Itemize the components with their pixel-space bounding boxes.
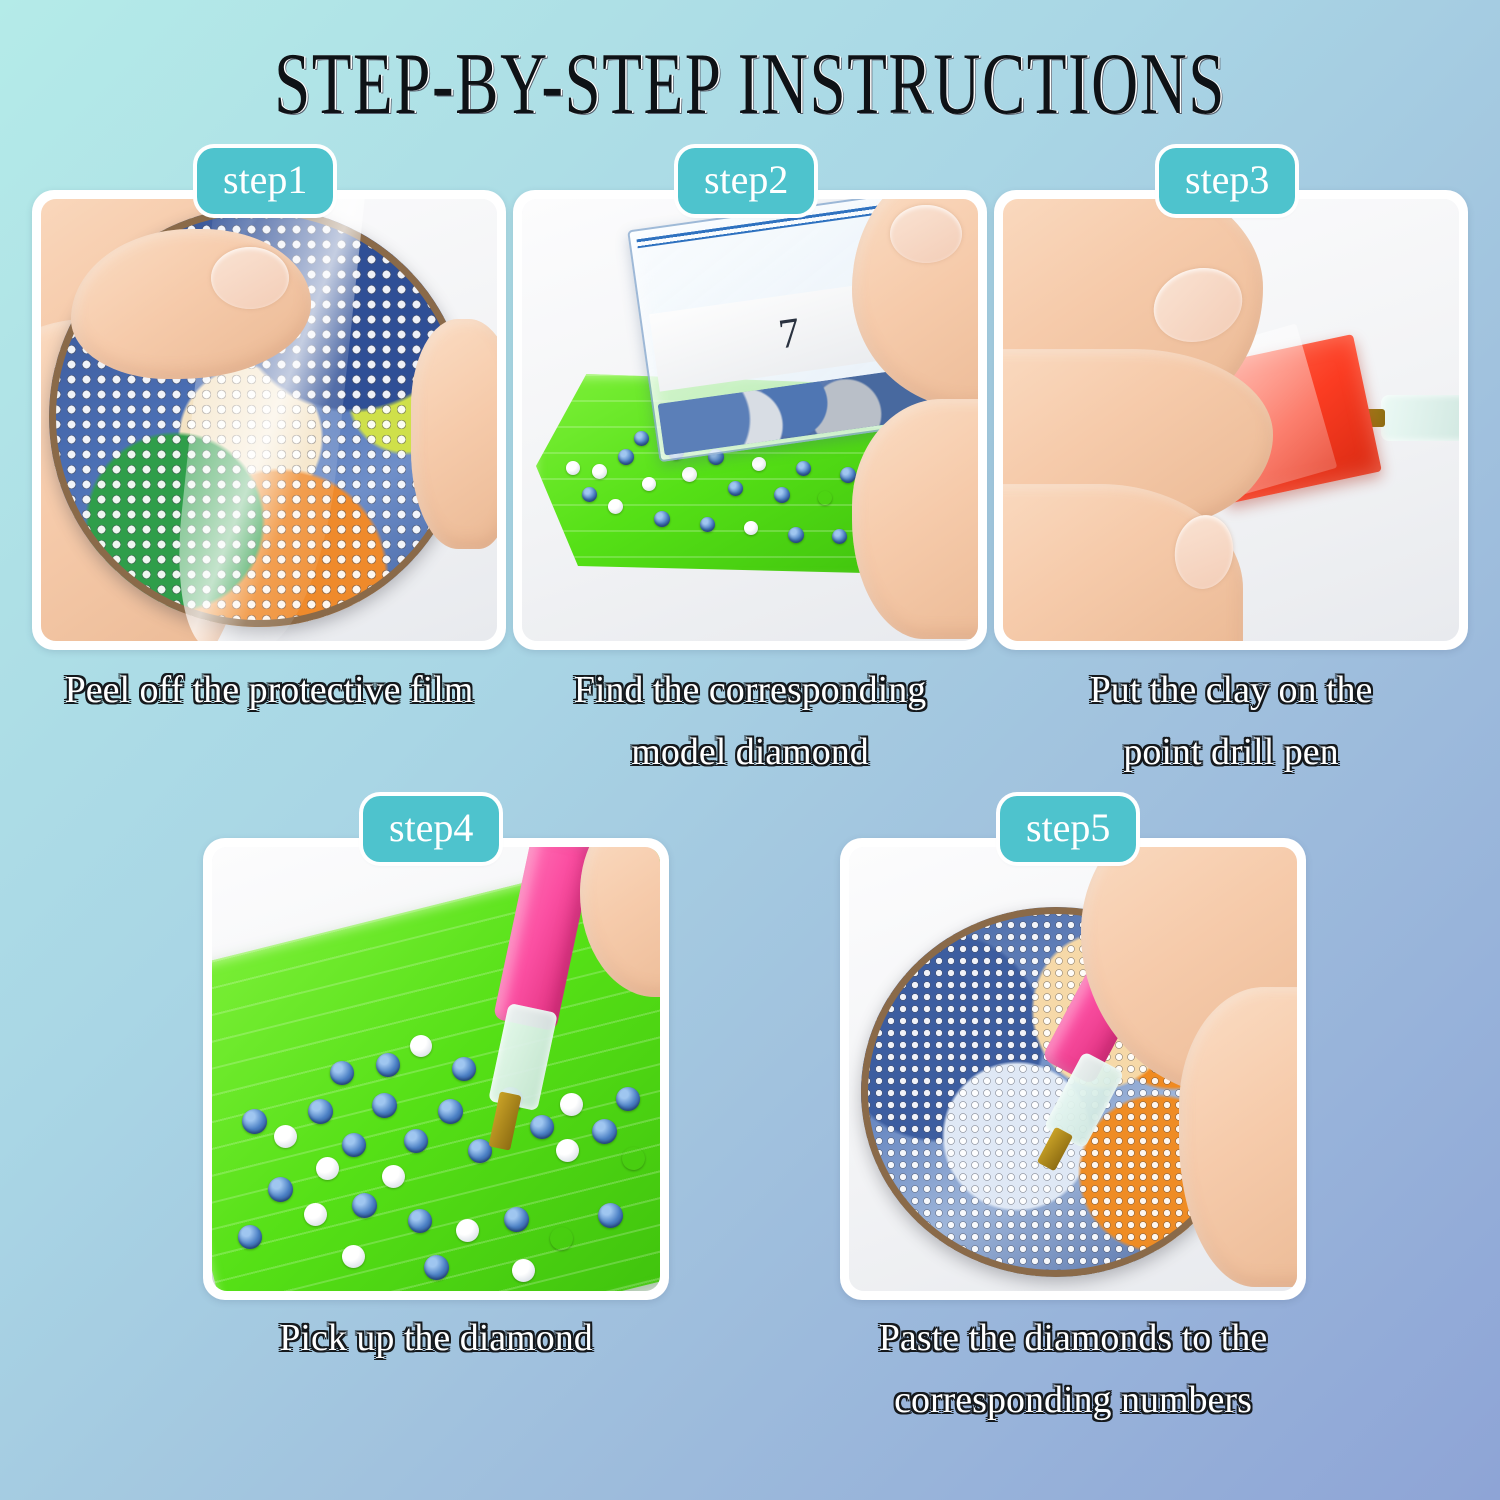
diamond-gem [342, 1245, 365, 1268]
step-caption-4: Pick up the diamond [203, 1308, 669, 1370]
diamond-gem [592, 464, 607, 479]
diamond-gem [308, 1099, 333, 1124]
diamond-gem [452, 1057, 476, 1081]
diamond-gem [316, 1157, 339, 1180]
diamond-gem [796, 461, 811, 476]
diamond-gem [342, 1133, 366, 1157]
diamond-gem [818, 491, 832, 505]
diamond-gem [438, 1099, 463, 1124]
drill-pen-barrel [1381, 395, 1459, 441]
diamond-gem [788, 527, 804, 543]
diamond-gem [654, 511, 670, 527]
diamond-gem [682, 467, 697, 482]
step-card-2: 7 step2 [513, 190, 987, 650]
diamond-gem [744, 521, 758, 535]
diamond-gem [274, 1125, 297, 1148]
step-caption-2: Find the corresponding model diamond [513, 660, 987, 783]
fingernail [211, 247, 289, 309]
diamond-gem [592, 1119, 617, 1144]
diamond-gem [832, 529, 847, 544]
step-badge-2: step2 [678, 148, 814, 214]
diamond-gem [752, 457, 766, 471]
diamond-gem [566, 461, 580, 475]
step-badge-4: step4 [363, 796, 499, 862]
diamond-gem [608, 499, 623, 514]
diamond-gem [560, 1093, 583, 1116]
step-badge-1: step1 [197, 148, 333, 214]
step-card-5: step5 [840, 838, 1306, 1300]
diamond-gem [382, 1165, 405, 1188]
diamond-gem [700, 517, 715, 532]
diamond-gem [634, 431, 649, 446]
step-photo-2: 7 [522, 199, 978, 641]
step-card-4: step4 [203, 838, 669, 1300]
diamond-gem [376, 1053, 400, 1077]
diamond-gem [598, 1203, 623, 1228]
diamond-gem [424, 1255, 449, 1280]
step-photo-5 [849, 847, 1297, 1291]
step-photo-1 [41, 199, 497, 641]
step-card-1: step1 [32, 190, 506, 650]
diamond-gem [642, 477, 656, 491]
diamond-gem [410, 1035, 432, 1057]
step-caption-5: Paste the diamonds to the corresponding … [840, 1308, 1306, 1431]
diamond-gem [582, 487, 597, 502]
diamond-gem [372, 1093, 397, 1118]
step-caption-3: Put the clay on the point drill pen [994, 660, 1468, 783]
diamond-gem [774, 487, 790, 503]
diamond-gem [268, 1177, 293, 1202]
diamond-gem [728, 481, 743, 496]
page-title: STEP-BY-STEP INSTRUCTIONS [195, 34, 1305, 135]
diamond-gem [550, 1227, 573, 1250]
diamond-gem [238, 1225, 262, 1249]
diamond-gem [304, 1203, 327, 1226]
diamond-gem [352, 1193, 377, 1218]
diamond-gem [556, 1139, 579, 1162]
diamond-gem [242, 1109, 267, 1134]
step-badge-5: step5 [1000, 796, 1136, 862]
fingernail [890, 205, 962, 263]
step-card-3: step3 [994, 190, 1468, 650]
step-badge-3: step3 [1159, 148, 1295, 214]
diamond-gem [330, 1061, 354, 1085]
step-photo-4 [212, 847, 660, 1291]
diamond-gem [404, 1129, 428, 1153]
diamond-gem [408, 1209, 432, 1233]
diamond-gem [530, 1115, 554, 1139]
diamond-gem [618, 449, 634, 465]
diamond-gem [616, 1087, 640, 1111]
diamond-gem [456, 1219, 479, 1242]
step-photo-3 [1003, 199, 1459, 641]
diamond-gem [622, 1147, 645, 1170]
diamond-gem [504, 1207, 529, 1232]
finger-shape [411, 319, 497, 549]
diamond-gem [512, 1259, 535, 1282]
step-caption-1: Peel off the protective film [32, 660, 506, 722]
